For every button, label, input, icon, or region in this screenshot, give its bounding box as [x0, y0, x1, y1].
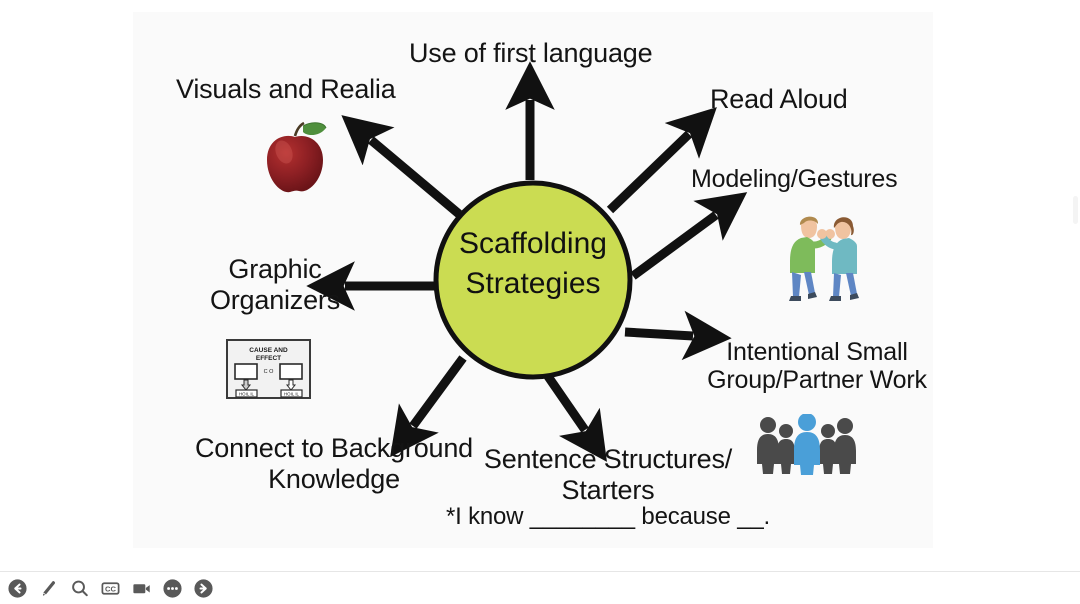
slide-canvas: Scaffolding Strategies Use of first lang…	[133, 12, 933, 548]
back-arrow-circle-icon	[7, 578, 28, 599]
label-graphic-organizers: Graphic Organizers	[185, 254, 365, 315]
organizer-middle-label: C O	[264, 369, 275, 375]
arrow-to-connect-background	[413, 358, 463, 426]
label-visuals-and-realia: Visuals and Realia	[176, 74, 396, 105]
captions-label: CC	[104, 584, 116, 593]
arrow-to-modeling-gestures	[633, 215, 716, 276]
search-icon	[69, 578, 90, 599]
label-sentence-structures-starters: Sentence Structures/ Starters	[478, 444, 738, 505]
captions-button[interactable]: CC	[99, 577, 121, 599]
arrow-to-read-aloud	[610, 134, 689, 210]
pencil-icon	[38, 578, 59, 599]
two-people-high-five-icon	[771, 205, 881, 305]
annotate-button[interactable]	[37, 577, 59, 599]
label-modeling-gestures: Modeling/Gestures	[691, 165, 897, 193]
label-read-aloud: Read Aloud	[710, 84, 848, 115]
group-of-people-icon	[752, 414, 862, 476]
organizer-title-line1: CAUSE AND	[249, 347, 288, 354]
label-sentence-example: *I know ________ because __.	[433, 503, 783, 530]
organizer-title-line2: EFFECT	[256, 355, 281, 362]
forward-arrow-circle-icon	[193, 578, 214, 599]
zoom-button[interactable]	[68, 577, 90, 599]
vertical-scrollbar[interactable]	[1073, 196, 1078, 224]
arrow-to-sentence-structures	[545, 372, 585, 430]
organizer-box-right-label: HOIL IL	[284, 391, 300, 396]
arrow-to-small-group	[625, 332, 693, 336]
slide-viewer: Scaffolding Strategies Use of first lang…	[0, 0, 1080, 570]
red-apple-icon	[258, 120, 332, 196]
closed-captions-icon: CC	[100, 578, 121, 599]
label-intentional-small-group: Intentional Small Group/Partner Work	[682, 338, 952, 395]
more-dots-circle-icon	[162, 578, 183, 599]
label-connect-to-background-knowledge: Connect to Background Knowledge	[191, 433, 477, 494]
arrow-to-visuals	[371, 140, 459, 214]
cause-and-effect-organizer-icon: CAUSE AND EFFECT C O HOIL IL HOIL IL	[226, 339, 311, 399]
center-circle	[436, 183, 630, 377]
label-use-of-first-language: Use of first language	[409, 38, 652, 69]
bottom-toolbar: CC	[0, 571, 1080, 604]
organizer-box-left-label: HOIL IL	[239, 391, 255, 396]
video-camera-icon	[131, 578, 152, 599]
more-button[interactable]	[161, 577, 183, 599]
video-button[interactable]	[130, 577, 152, 599]
previous-button[interactable]	[6, 577, 28, 599]
next-button[interactable]	[192, 577, 214, 599]
